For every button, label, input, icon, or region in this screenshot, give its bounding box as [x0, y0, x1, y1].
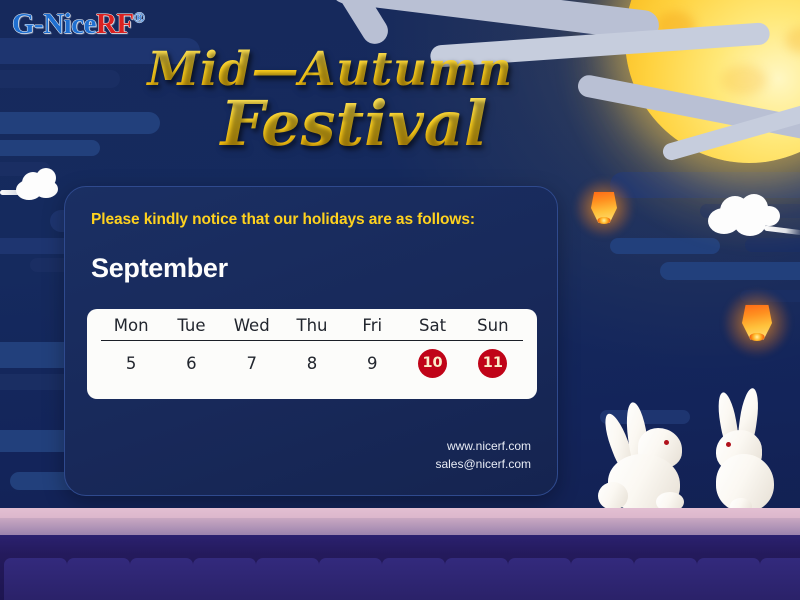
workday-number: 7	[246, 356, 257, 373]
rabbit-left-eye	[664, 440, 669, 445]
ledge-surface	[0, 518, 800, 535]
notice-text: Please kindly notice that our holidays a…	[91, 211, 475, 229]
calendar-day-row: 567891011	[101, 341, 523, 386]
cloud-puff-left	[8, 168, 68, 204]
rabbit-right-eye	[726, 442, 731, 447]
contact-email[interactable]: sales@nicerf.com	[435, 455, 531, 473]
wall-brick	[445, 558, 508, 600]
month-label: September	[91, 253, 228, 284]
calendar-header-wed: Wed	[222, 315, 282, 341]
mid-autumn-festival-poster: G-NiceRF® Mid—Autumn Festival Please kin…	[0, 0, 800, 600]
holiday-day-badge: 11	[478, 349, 507, 378]
calendar-header-row: MonTueWedThuFriSatSun	[101, 315, 523, 341]
wall-brick	[256, 558, 319, 600]
calendar-cell: 9	[342, 341, 402, 386]
calendar-header-sun: Sun	[463, 315, 523, 341]
wall-brick	[193, 558, 256, 600]
wall-brick	[4, 558, 67, 600]
holiday-notice-card: Please kindly notice that our holidays a…	[64, 186, 558, 496]
wall-brick	[697, 558, 760, 600]
calendar-cell: 6	[161, 341, 221, 386]
calendar-header-fri: Fri	[342, 315, 402, 341]
calendar-header-tue: Tue	[161, 315, 221, 341]
wall-brick	[571, 558, 634, 600]
sky-lantern-lower	[728, 292, 786, 354]
wall-brick	[130, 558, 193, 600]
calendar-cell: 7	[222, 341, 282, 386]
rabbit-left	[594, 396, 704, 514]
contact-website[interactable]: www.nicerf.com	[435, 437, 531, 455]
cloud-puff-right	[702, 194, 792, 242]
holiday-day-badge: 10	[418, 349, 447, 378]
brick-wall	[0, 535, 800, 600]
logo-text-primary: G-Nice	[12, 8, 96, 40]
calendar-cell: 10	[402, 341, 462, 386]
calendar-header-sat: Sat	[402, 315, 462, 341]
wall-brick	[319, 558, 382, 600]
calendar-cell: 11	[463, 341, 523, 386]
logo-text-secondary: RF	[96, 8, 134, 40]
sky-lantern-upper	[578, 180, 630, 236]
workday-number: 8	[307, 356, 318, 373]
calendar-cell: 5	[101, 341, 161, 386]
company-logo[interactable]: G-NiceRF®	[12, 8, 144, 41]
contact-info: www.nicerf.com sales@nicerf.com	[435, 437, 531, 473]
wall-brick	[67, 558, 130, 600]
registered-trademark-icon: ®	[134, 10, 145, 26]
workday-number: 6	[186, 356, 197, 373]
holiday-calendar: MonTueWedThuFriSatSun 567891011	[87, 309, 537, 399]
calendar-header-thu: Thu	[282, 315, 342, 341]
rabbit-right	[708, 386, 800, 514]
calendar-table: MonTueWedThuFriSatSun 567891011	[101, 315, 523, 385]
wall-brick	[634, 558, 697, 600]
wall-brick	[508, 558, 571, 600]
wall-brick	[760, 558, 800, 600]
wall-brick	[382, 558, 445, 600]
calendar-header-mon: Mon	[101, 315, 161, 341]
workday-number: 9	[367, 356, 378, 373]
workday-number: 5	[126, 356, 137, 373]
ledge-highlight	[0, 508, 800, 518]
calendar-cell: 8	[282, 341, 342, 386]
